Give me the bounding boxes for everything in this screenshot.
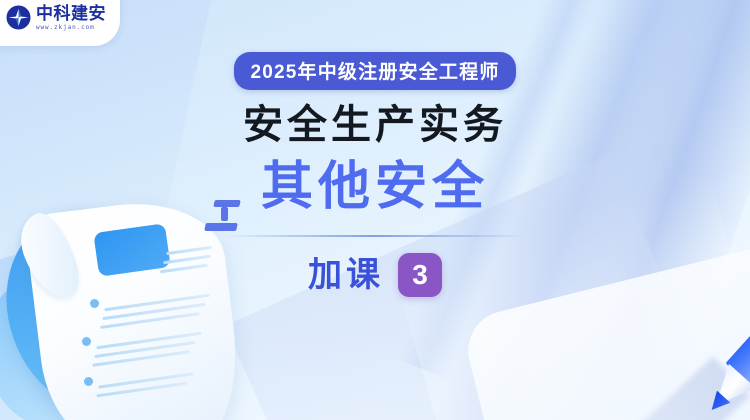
brand-logo[interactable]: 中科建安 www.zkjan.com (0, 0, 120, 46)
banner-stage: 2025年中级注册安全工程师 安全生产实务 其他安全 加课 3 中科建安 www… (0, 0, 750, 420)
exam-badge: 2025年中级注册安全工程师 (234, 52, 515, 90)
subject-title: 安全生产实务 (243, 105, 507, 145)
brand-text: 中科建安 www.zkjan.com (36, 3, 106, 31)
divider (224, 235, 526, 237)
brand-name: 中科建安 (36, 5, 106, 22)
banner-content: 2025年中级注册安全工程师 安全生产实务 其他安全 加课 3 (0, 0, 750, 420)
lesson-number-badge: 3 (398, 253, 442, 297)
compass-star-icon (6, 5, 31, 30)
brand-url: www.zkjan.com (36, 25, 106, 31)
lesson-label: 加课 (308, 258, 384, 292)
lesson-row: 加课 3 (308, 253, 442, 297)
topic-title: 其他安全 (261, 161, 489, 213)
